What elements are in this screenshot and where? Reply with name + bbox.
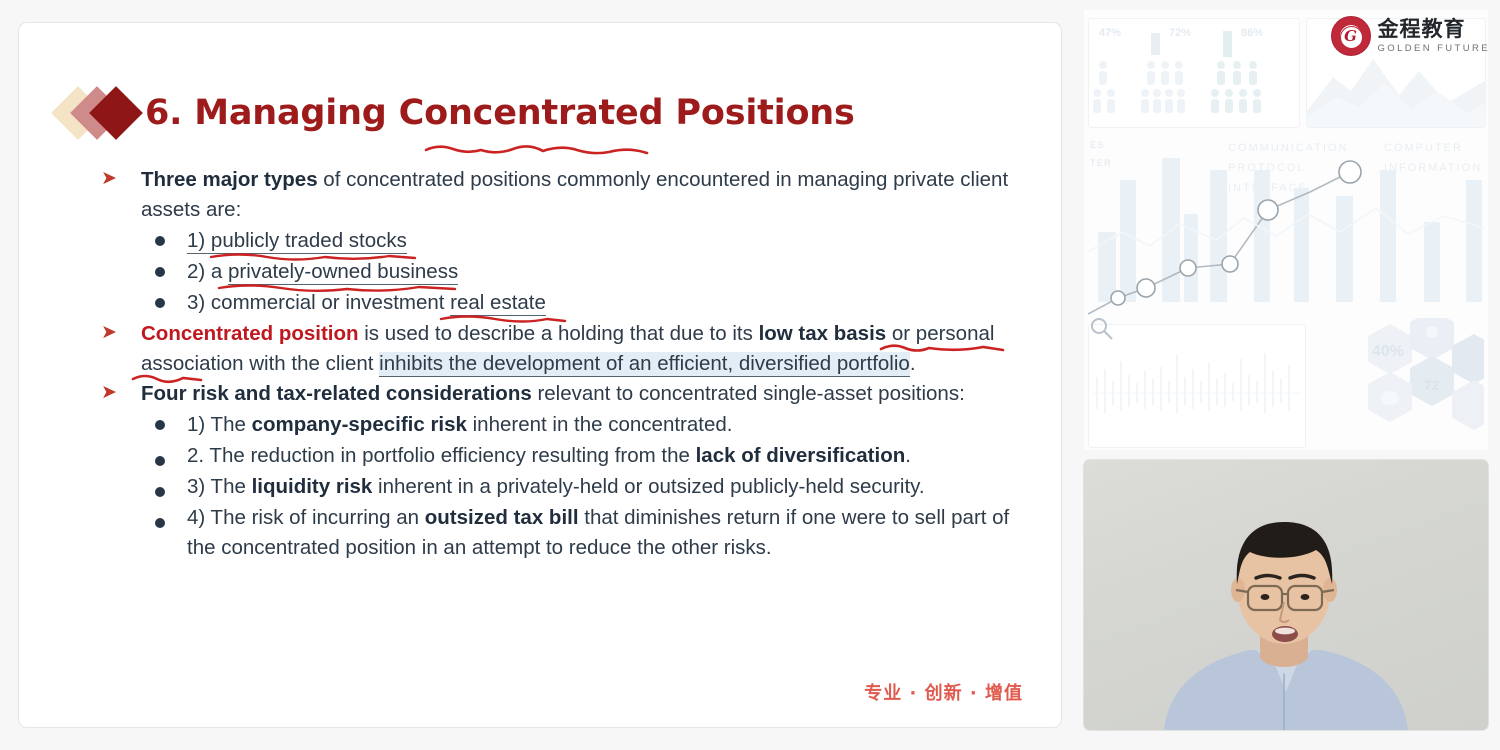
candlestick-chart-icon bbox=[1089, 325, 1305, 447]
arrow-bullet-icon: ➤ bbox=[101, 379, 117, 407]
sub-bullet-publicly-traded-stocks: 1) publicly traded stocks bbox=[97, 226, 1037, 256]
bullet-3-bold: Four risk and tax-related considerations bbox=[141, 382, 532, 405]
right-column: 47% 72% 86% bbox=[1070, 0, 1500, 750]
hexagon-icon: 40% 72 bbox=[1332, 318, 1484, 450]
bullet-four-risk-considerations: ➤ Four risk and tax-related consideratio… bbox=[97, 379, 1037, 409]
risk-1-pre: 1) The bbox=[187, 413, 252, 436]
risk-1-bold: company-specific risk bbox=[252, 413, 467, 436]
brand-name-en: GOLDEN FUTURE bbox=[1378, 43, 1490, 54]
sub-bullet-2-text: privately-owned business bbox=[228, 260, 458, 285]
bullet-1-bold: Three major types bbox=[141, 168, 318, 191]
dot-bullet-icon bbox=[155, 487, 165, 497]
slide-footer-slogan: 专业 · 创新 · 增值 bbox=[864, 679, 1023, 705]
magnifier-icon bbox=[1086, 316, 1116, 340]
hex-pct-label: 40% bbox=[1372, 343, 1404, 360]
people-pictogram-icon bbox=[1089, 19, 1299, 127]
risk-2-bold: lack of diversification bbox=[696, 444, 906, 467]
risk-3-pre: 3) The bbox=[187, 475, 252, 498]
risk-2-post: . bbox=[905, 444, 911, 467]
line-chart-background: ES TER COMMUNICATION PROTOCOL INTERFACE … bbox=[1088, 136, 1488, 316]
bullet-2-red-term: Concentrated position bbox=[141, 322, 359, 345]
dot-bullet-icon bbox=[155, 456, 165, 466]
risk-3-post: inherent in a privately-held or outsized… bbox=[372, 475, 924, 498]
sub-bullet-lack-of-diversification: 2. The reduction in portfolio efficiency… bbox=[97, 441, 1037, 471]
risk-3-bold: liquidity risk bbox=[252, 475, 373, 498]
bullet-concentrated-position: ➤ Concentrated position is used to descr… bbox=[97, 319, 1037, 379]
slide-body: ➤ Three major types of concentrated posi… bbox=[97, 165, 1037, 564]
bullet-2-mid: is used to describe a holding that due t… bbox=[359, 322, 759, 345]
diamond-decoration-icon bbox=[59, 86, 145, 140]
hexagon-cluster: 40% 72 bbox=[1332, 318, 1484, 450]
arrow-bullet-icon: ➤ bbox=[101, 165, 117, 193]
sub-bullet-3-prefix: 3) commercial or investment bbox=[187, 291, 450, 314]
sub-bullet-2-prefix: 2) a bbox=[187, 260, 228, 283]
brand-name-cn: 金程教育 bbox=[1378, 19, 1490, 40]
line-chart-icon bbox=[1088, 136, 1488, 316]
hex-pct2-label: 72 bbox=[1424, 377, 1440, 393]
sub-bullet-company-specific-risk: 1) The company-specific risk inherent in… bbox=[97, 410, 1037, 440]
sub-bullet-outsized-tax-bill: 4) The risk of incurring an outsized tax… bbox=[97, 503, 1037, 563]
bullet-3-rest: relevant to concentrated single-asset po… bbox=[532, 382, 965, 405]
presenter-figure bbox=[1084, 460, 1488, 730]
candlestick-card bbox=[1088, 324, 1306, 448]
title-annotation-underline-icon bbox=[423, 141, 663, 159]
risk-4-bold: outsized tax bill bbox=[425, 506, 579, 529]
bullet-2-end: . bbox=[910, 352, 916, 375]
sub-bullet-1-text: 1) publicly traded stocks bbox=[187, 229, 407, 254]
presentation-screen: 6. Managing Concentrated Positions ➤ Thr… bbox=[0, 0, 1500, 750]
dot-bullet-icon bbox=[155, 298, 165, 308]
arrow-bullet-icon: ➤ bbox=[101, 319, 117, 347]
logo-seal-icon: G bbox=[1331, 16, 1371, 56]
risk-4-pre: 4) The risk of incurring an bbox=[187, 506, 425, 529]
risk-1-post: inherent in the concentrated. bbox=[467, 413, 733, 436]
logo-mark: G bbox=[1332, 17, 1370, 55]
risk-2-pre: 2. The reduction in portfolio efficiency… bbox=[187, 444, 696, 467]
dot-bullet-icon bbox=[155, 267, 165, 277]
dot-bullet-icon bbox=[155, 236, 165, 246]
sub-bullet-3-underlined: real estate bbox=[450, 291, 546, 316]
background-infographic: 47% 72% 86% bbox=[1084, 10, 1488, 450]
bullet-2-bold-term: low tax basis bbox=[759, 322, 887, 345]
sub-bullet-liquidity-risk: 3) The liquidity risk inherent in a priv… bbox=[97, 472, 1037, 502]
brand-logo: G 金程教育 GOLDEN FUTURE bbox=[1331, 16, 1490, 56]
slide-panel: 6. Managing Concentrated Positions ➤ Thr… bbox=[18, 22, 1062, 728]
bullet-three-major-types: ➤ Three major types of concentrated posi… bbox=[97, 165, 1037, 225]
sub-bullet-privately-owned-business: 2) a privately-owned business bbox=[97, 257, 1037, 287]
dot-bullet-icon bbox=[155, 518, 165, 528]
sub-bullet-real-estate: 3) commercial or investment real estate bbox=[97, 288, 1037, 318]
slide-title-row: 6. Managing Concentrated Positions bbox=[59, 81, 855, 145]
presenter-video[interactable] bbox=[1084, 460, 1488, 730]
dot-bullet-icon bbox=[155, 420, 165, 430]
people-stats-card: 47% 72% 86% bbox=[1088, 18, 1300, 128]
bullet-2-underlined: inhibits the development of an efficient… bbox=[379, 352, 910, 377]
slide-title: 6. Managing Concentrated Positions bbox=[145, 93, 855, 133]
